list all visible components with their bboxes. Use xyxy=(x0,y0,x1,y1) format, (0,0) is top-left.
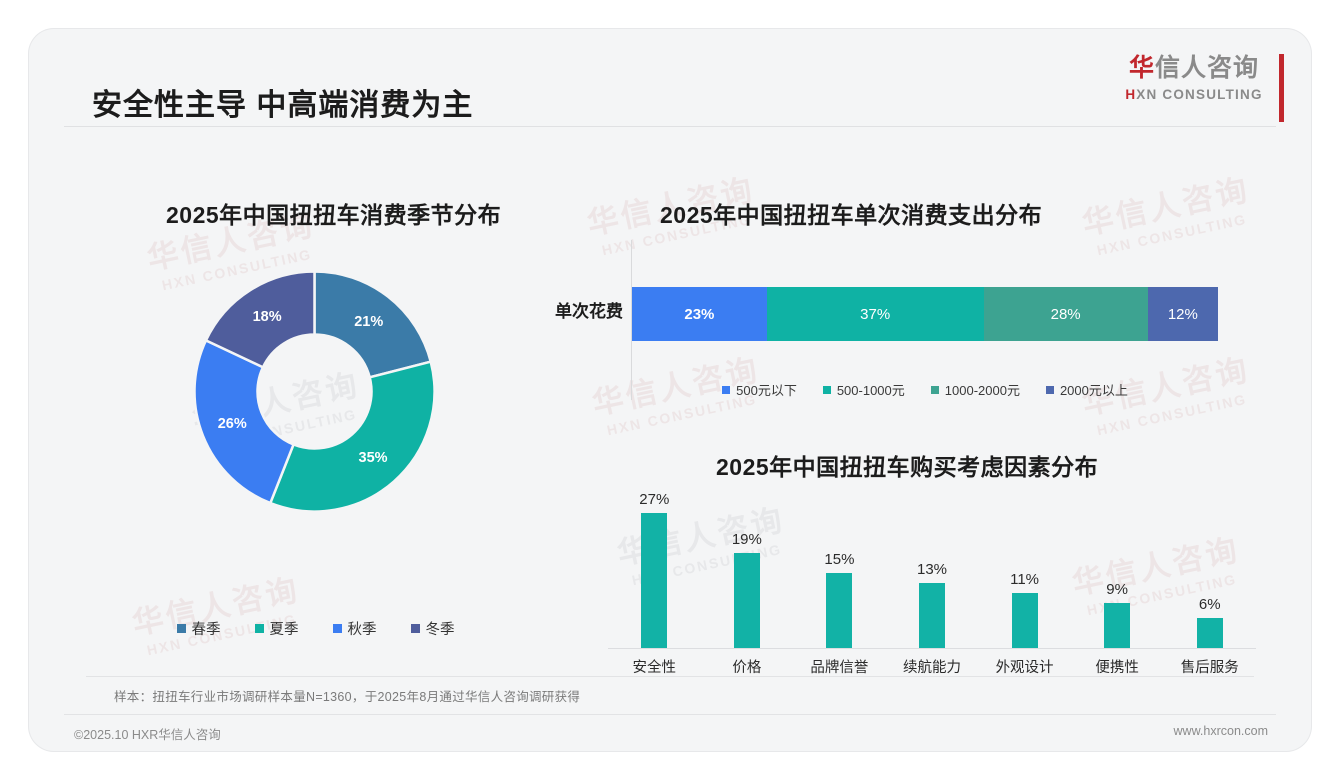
column-value-label: 6% xyxy=(1164,596,1256,613)
donut-chart: 21%35%26%18% xyxy=(191,268,438,515)
stacked-bar-panel: 2025年中国扭扭车单次消费支出分布 单次花费 23%37%28%12% 500… xyxy=(588,168,1278,418)
logo-english-rest: XN CONSULTING xyxy=(1136,87,1262,102)
stacked-bar-title: 2025年中国扭扭车单次消费支出分布 xyxy=(660,196,1042,230)
legend-swatch xyxy=(1046,386,1054,394)
column-category-label: 安全性 xyxy=(608,656,700,677)
legend-item[interactable]: 2000元以上 xyxy=(1046,380,1128,399)
column-category-label: 售后服务 xyxy=(1164,656,1256,677)
column-category-label: 续航能力 xyxy=(886,656,978,677)
footnote-text: 样本：扭扭车行业市场调研样本量N=1360，于2025年8月通过华信人咨询调研获… xyxy=(114,686,580,705)
logo-english-accent: H xyxy=(1125,87,1136,102)
footnote-divider xyxy=(86,676,1254,677)
column-bar-group[interactable]: 9% xyxy=(1071,603,1163,648)
column-value-label: 11% xyxy=(979,571,1071,588)
column-bar[interactable] xyxy=(641,513,667,648)
column-value-label: 15% xyxy=(793,551,885,568)
column-value-label: 27% xyxy=(608,491,700,508)
column-category-label: 价格 xyxy=(701,656,793,677)
logo-english: HXN CONSULTING xyxy=(1118,88,1270,102)
legend-item[interactable]: 1000-2000元 xyxy=(931,380,1020,399)
column-bar[interactable] xyxy=(1012,593,1038,648)
column-chart-baseline xyxy=(608,648,1256,649)
donut-chart-panel: 2025年中国扭扭车消费季节分布 21%35%26%18% 春季夏季秋季冬季 xyxy=(78,168,638,668)
legend-swatch xyxy=(931,386,939,394)
legend-item[interactable]: 夏季 xyxy=(255,618,299,639)
column-bar-group[interactable]: 27% xyxy=(608,513,700,648)
legend-label: 秋季 xyxy=(348,618,377,639)
column-bar[interactable] xyxy=(734,553,760,648)
legend-item[interactable]: 秋季 xyxy=(333,618,377,639)
stacked-bar-category-label: 单次花费 xyxy=(528,297,623,322)
column-chart-plot: 27%19%15%13%11%9%6% xyxy=(608,498,1256,648)
legend-label: 1000-2000元 xyxy=(945,380,1020,399)
column-chart-panel: 2025年中国扭扭车购买考虑因素分布 27%19%15%13%11%9%6% 安… xyxy=(588,428,1278,678)
donut-slice-label: 35% xyxy=(359,450,388,466)
column-category-label: 外观设计 xyxy=(979,656,1071,677)
legend-swatch xyxy=(722,386,730,394)
page-title: 安全性主导 中高端消费为主 xyxy=(92,80,473,124)
column-value-label: 19% xyxy=(701,531,793,548)
slide-frame: 安全性主导 中高端消费为主 华信人咨询 HXN CONSULTING 华信人咨询… xyxy=(28,28,1312,752)
column-bar-group[interactable]: 19% xyxy=(701,553,793,648)
legend-item[interactable]: 500元以下 xyxy=(722,380,797,399)
legend-label: 冬季 xyxy=(426,618,455,639)
logo-chinese-rest: 信人咨询 xyxy=(1155,54,1259,82)
legend-label: 500-1000元 xyxy=(837,380,905,399)
stacked-bar-segment[interactable]: 37% xyxy=(767,287,984,341)
column-bar[interactable] xyxy=(919,583,945,648)
column-bar-group[interactable]: 11% xyxy=(979,593,1071,648)
donut-slice-label: 26% xyxy=(218,416,247,432)
donut-slice-label: 18% xyxy=(253,309,282,325)
column-bar[interactable] xyxy=(826,573,852,648)
donut-svg xyxy=(191,268,438,515)
donut-chart-title: 2025年中国扭扭车消费季节分布 xyxy=(166,196,501,230)
logo-chinese-accent: 华 xyxy=(1129,54,1155,82)
column-category-label: 品牌信誉 xyxy=(793,656,885,677)
header-divider xyxy=(64,126,1276,127)
legend-label: 夏季 xyxy=(270,618,299,639)
stacked-bar-track: 23%37%28%12% xyxy=(632,287,1218,341)
legend-item[interactable]: 500-1000元 xyxy=(823,380,905,399)
stacked-bar-legend: 500元以下500-1000元1000-2000元2000元以上 xyxy=(632,380,1218,399)
brand-logo: 华信人咨询 HXN CONSULTING xyxy=(1118,56,1270,102)
logo-chinese: 华信人咨询 xyxy=(1118,56,1270,81)
legend-swatch xyxy=(255,624,264,633)
donut-slice-label: 21% xyxy=(354,314,383,330)
footer-copyright: ©2025.10 HXR华信人咨询 xyxy=(74,724,221,743)
logo-accent-bar xyxy=(1279,54,1284,122)
column-value-label: 13% xyxy=(886,561,978,578)
column-bar-group[interactable]: 15% xyxy=(793,573,885,648)
legend-item[interactable]: 春季 xyxy=(177,618,221,639)
slide-canvas: 安全性主导 中高端消费为主 华信人咨询 HXN CONSULTING 华信人咨询… xyxy=(0,0,1340,780)
legend-label: 2000元以上 xyxy=(1060,380,1128,399)
donut-legend: 春季夏季秋季冬季 xyxy=(78,618,553,639)
legend-label: 500元以下 xyxy=(736,380,797,399)
footer-website[interactable]: www.hxrcon.com xyxy=(1174,724,1268,738)
legend-swatch xyxy=(333,624,342,633)
column-bar-group[interactable]: 13% xyxy=(886,583,978,648)
column-chart-title: 2025年中国扭扭车购买考虑因素分布 xyxy=(716,448,1098,482)
legend-swatch xyxy=(411,624,420,633)
donut-slice[interactable] xyxy=(270,362,434,512)
stacked-bar-segment[interactable]: 28% xyxy=(984,287,1148,341)
column-category-label: 便携性 xyxy=(1071,656,1163,677)
slide-header: 安全性主导 中高端消费为主 华信人咨询 HXN CONSULTING xyxy=(28,28,1312,126)
column-bar-group[interactable]: 6% xyxy=(1164,618,1256,648)
legend-label: 春季 xyxy=(192,618,221,639)
footer-divider xyxy=(64,714,1276,715)
legend-swatch xyxy=(823,386,831,394)
stacked-bar-segment[interactable]: 23% xyxy=(632,287,767,341)
column-bar[interactable] xyxy=(1104,603,1130,648)
stacked-bar-segment[interactable]: 12% xyxy=(1148,287,1218,341)
column-bar[interactable] xyxy=(1197,618,1223,648)
legend-item[interactable]: 冬季 xyxy=(411,618,455,639)
legend-swatch xyxy=(177,624,186,633)
column-value-label: 9% xyxy=(1071,581,1163,598)
